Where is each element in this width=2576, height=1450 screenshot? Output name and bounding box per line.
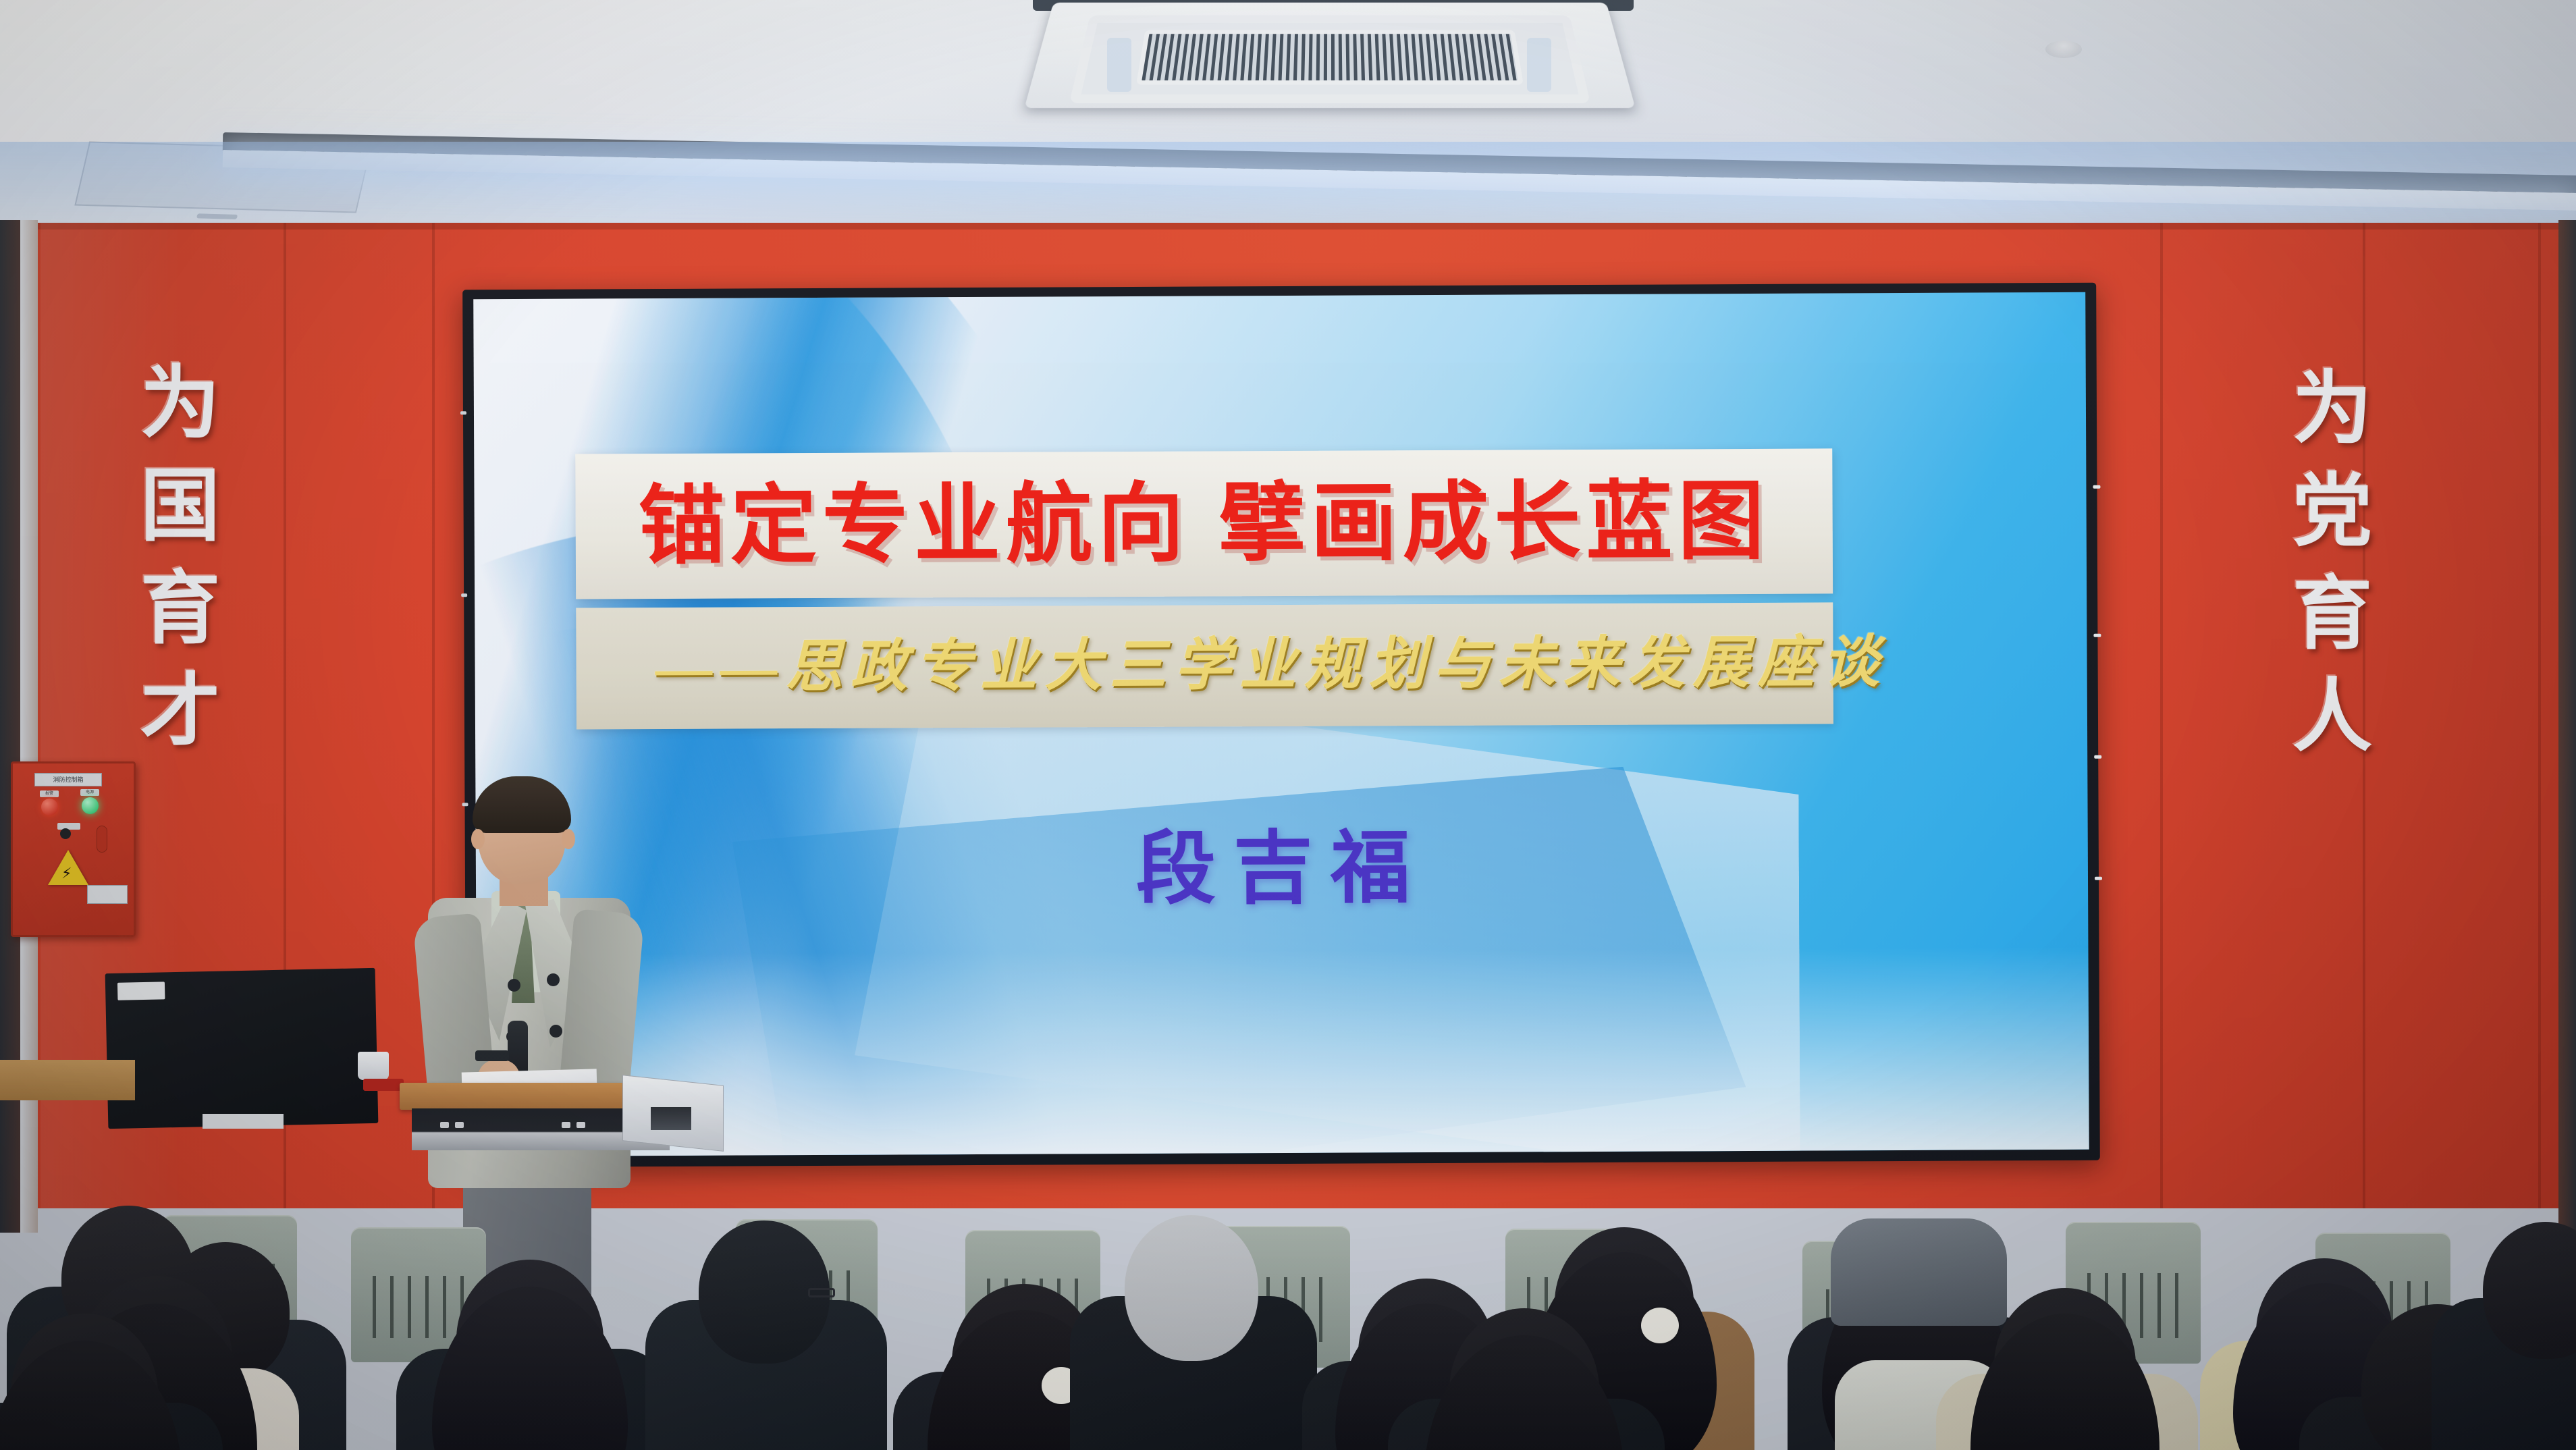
- attendee-long-hair-center: [1411, 1308, 1638, 1450]
- attendee-long-hair-right: [1958, 1288, 2172, 1450]
- speaker-ear-right: [562, 829, 575, 849]
- slide-title: 锚定专业航向 擘画成长蓝图: [639, 478, 1770, 569]
- right-wall-edge: [2558, 220, 2576, 1233]
- wall-char-right-2: 育: [2292, 575, 2372, 655]
- attendee-grey-hair-man: [1090, 1215, 1293, 1450]
- wall-panel-seam: [2538, 223, 2541, 1208]
- av-equipment-face: [651, 1107, 691, 1130]
- lecture-hall-photo: 为 国 育 才 为 党 育 人 消防控制箱 报警 电源 ⚡: [0, 0, 2576, 1450]
- speaker-ear-left: [471, 829, 485, 849]
- wall-char-right-0: 为: [2292, 370, 2372, 450]
- stage-front-rail: [0, 1060, 135, 1100]
- attendee-back-right: [2450, 1222, 2576, 1450]
- slide-subtitle-plate: ——思政专业大三学业规划与未来发展座谈: [576, 602, 1833, 729]
- wall-char-right-3: 人: [2292, 678, 2372, 757]
- wall-panel-seam: [2160, 223, 2163, 1208]
- slide-presenter-name: 段吉福: [476, 826, 2088, 912]
- attendee-long-hair: [1970, 1314, 2159, 1450]
- slide-subtitle: ——思政专业大三学业规划与未来发展座谈: [655, 635, 1887, 697]
- attendee-far-left-edge: [0, 1314, 196, 1450]
- wristwatch: [475, 1050, 509, 1061]
- audience-area: [0, 1141, 2576, 1450]
- led-display-bezel: 锚定专业航向 擘画成长蓝图 ——思政专业大三学业规划与未来发展座谈 段吉福: [462, 283, 2100, 1168]
- alarm-indicator-light: [41, 799, 58, 815]
- confidence-monitor: [105, 968, 379, 1129]
- speaker-hair: [473, 776, 571, 833]
- cup-on-lectern: [358, 1052, 389, 1080]
- lightning-bolt-icon: ⚡: [61, 866, 72, 881]
- rotary-switch-plate[interactable]: [57, 823, 80, 830]
- ac-louver-left: [1107, 38, 1131, 92]
- ac-louver-right: [1527, 38, 1551, 92]
- wall-slogan-right: 为 党 育 人: [2292, 370, 2372, 757]
- rotary-switch-knob[interactable]: [60, 828, 71, 839]
- wall-slogan-left: 为 国 育 才: [140, 365, 220, 752]
- led-display-screen: 锚定专业航向 擘画成长蓝图 ——思政专业大三学业规划与未来发展座谈 段吉福: [473, 292, 2089, 1156]
- power-lamp-cap: 电源: [80, 789, 99, 796]
- slide-title-plate: 锚定专业航向 擘画成长蓝图: [575, 448, 1833, 599]
- attendee-glasses: [665, 1220, 863, 1450]
- fire-control-box[interactable]: 消防控制箱 报警 电源 ⚡: [11, 761, 136, 937]
- alarm-lamp-cap: 报警: [40, 790, 59, 797]
- attendee-long-hair-center-left: [419, 1260, 641, 1450]
- attendee-long-hair: [1424, 1335, 1624, 1450]
- smoke-detector: [2045, 41, 2082, 58]
- indicator-tube: [97, 826, 107, 853]
- wall-char-left-1: 国: [140, 467, 220, 547]
- attendee-head: [1125, 1215, 1258, 1361]
- ac-intake-grille: [1136, 30, 1524, 84]
- eyeglasses-icon: [808, 1288, 835, 1297]
- wall-char-left-0: 为: [140, 365, 220, 444]
- hair-clip: [1641, 1308, 1679, 1343]
- wall-char-left-2: 育: [140, 570, 220, 649]
- spec-plate: [87, 885, 128, 904]
- wall-char-left-3: 才: [140, 672, 220, 752]
- power-indicator-light: [82, 797, 99, 814]
- red-item-on-lectern: [363, 1079, 404, 1091]
- monitor-sticker: [117, 982, 165, 1000]
- fire-box-label: 消防控制箱: [34, 773, 102, 786]
- wall-top-shadow-line: [0, 223, 2576, 230]
- wall-char-right-1: 党: [2292, 473, 2372, 552]
- monitor-stand: [203, 1114, 284, 1129]
